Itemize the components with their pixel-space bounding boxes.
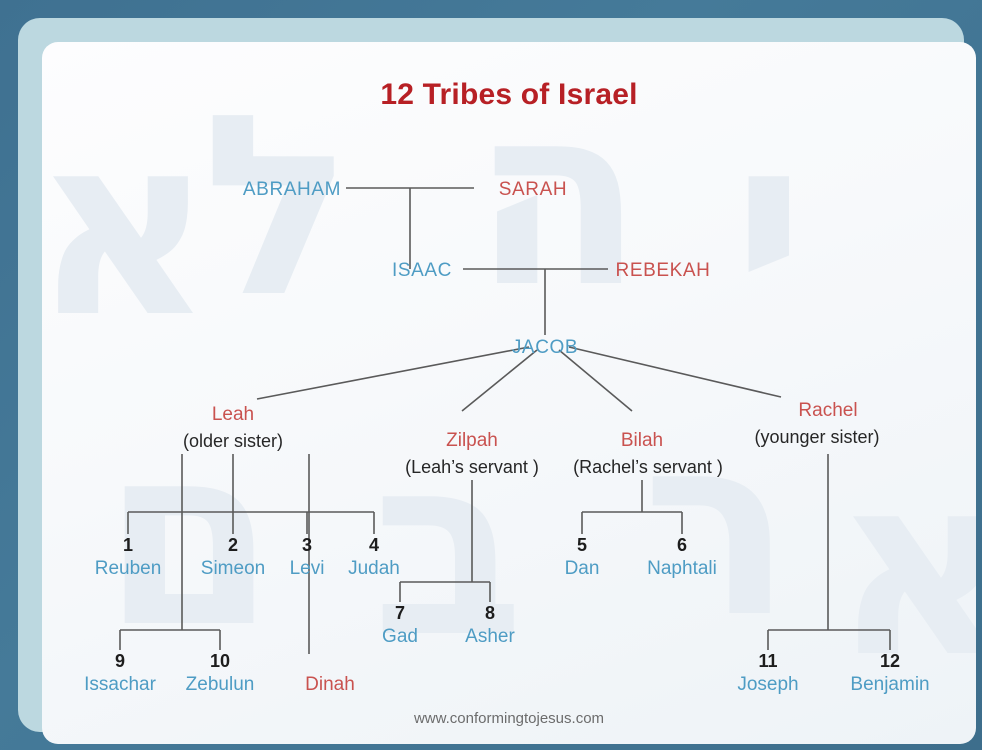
person-zebulun[interactable]: Zebulun (186, 675, 255, 694)
child-number-1: 1 (123, 536, 133, 554)
zilpah-note: (Leah’s servant ) (405, 458, 539, 476)
frame-bevel: א ל ה י ם ב ר א 12 Tribes of Israel (18, 18, 964, 732)
child-number-7: 7 (395, 604, 405, 622)
person-rebekah[interactable]: REBEKAH (615, 261, 710, 280)
person-naphtali[interactable]: Naphtali (647, 559, 717, 578)
child-number-10: 10 (210, 652, 230, 670)
leah-note: (older sister) (183, 432, 283, 450)
rachel-note: (younger sister) (754, 428, 879, 446)
person-sarah[interactable]: SARAH (499, 180, 567, 199)
person-asher[interactable]: Asher (465, 627, 515, 646)
person-levi[interactable]: Levi (290, 559, 325, 578)
person-simeon[interactable]: Simeon (201, 559, 265, 578)
person-jacob[interactable]: JACOB (512, 338, 578, 357)
person-rachel[interactable]: Rachel (798, 401, 857, 420)
person-benjamin[interactable]: Benjamin (850, 675, 929, 694)
person-joseph[interactable]: Joseph (737, 675, 798, 694)
bilah-note: (Rachel’s servant ) (573, 458, 723, 476)
image-frame: א ל ה י ם ב ר א 12 Tribes of Israel (0, 0, 982, 750)
diagram-panel: א ל ה י ם ב ר א 12 Tribes of Israel (42, 42, 976, 744)
person-bilah[interactable]: Bilah (621, 431, 663, 450)
child-number-5: 5 (577, 536, 587, 554)
child-number-11: 11 (758, 652, 777, 670)
child-number-12: 12 (880, 652, 900, 670)
person-leah[interactable]: Leah (212, 405, 254, 424)
child-number-8: 8 (485, 604, 495, 622)
person-gad[interactable]: Gad (382, 627, 418, 646)
person-dan[interactable]: Dan (565, 559, 600, 578)
person-isaac[interactable]: ISAAC (392, 261, 452, 280)
person-issachar[interactable]: Issachar (84, 675, 156, 694)
person-judah[interactable]: Judah (348, 559, 400, 578)
child-number-4: 4 (369, 536, 379, 554)
person-dinah[interactable]: Dinah (305, 675, 355, 694)
child-number-6: 6 (677, 536, 687, 554)
source-url: www.conformingtojesus.com (414, 710, 604, 727)
child-number-2: 2 (228, 536, 238, 554)
person-reuben[interactable]: Reuben (95, 559, 162, 578)
person-zilpah[interactable]: Zilpah (446, 431, 498, 450)
child-number-3: 3 (302, 536, 312, 554)
genealogy-chart: 12 Tribes of Israel (42, 42, 976, 744)
child-number-9: 9 (115, 652, 125, 670)
person-abraham[interactable]: ABRAHAM (243, 180, 341, 199)
